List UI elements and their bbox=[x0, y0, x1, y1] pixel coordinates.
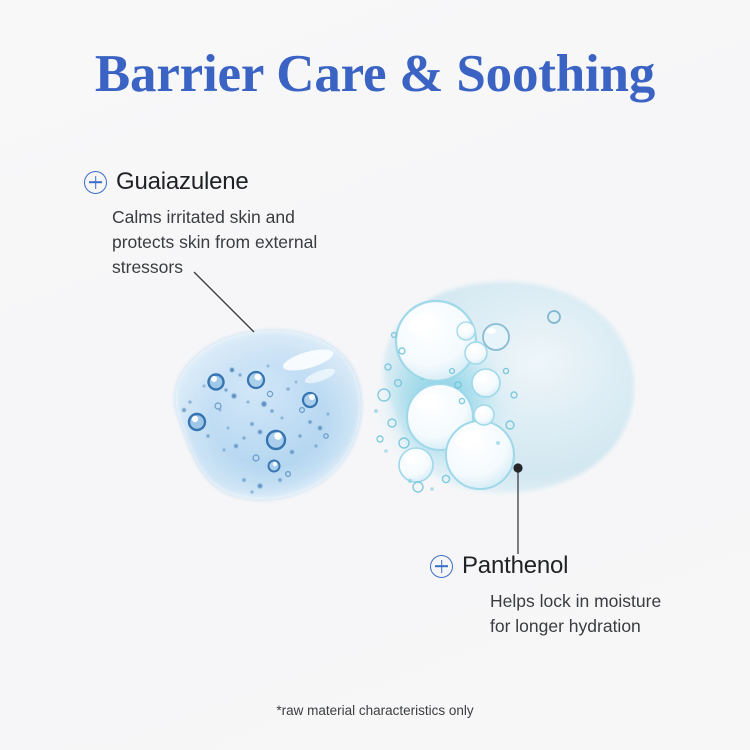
ingredient-name: Guaiazulene bbox=[116, 168, 249, 196]
clear-gel-droplet bbox=[358, 275, 648, 515]
blue-gel-droplet bbox=[160, 318, 370, 518]
ingredient-description: Calms irritated skin and protects skin f… bbox=[112, 205, 317, 280]
ingredient-guaiazulene: Guaiazulene Calms irritated skin and pro… bbox=[84, 168, 317, 280]
ingredient-panthenol: Panthenol Helps lock in moisture for lon… bbox=[430, 552, 661, 639]
ingredient-header: Panthenol bbox=[430, 552, 661, 580]
circled-plus-icon bbox=[84, 171, 107, 194]
page-title: Barrier Care & Soothing bbox=[0, 44, 750, 104]
ingredient-name: Panthenol bbox=[462, 552, 568, 580]
ingredient-header: Guaiazulene bbox=[84, 168, 317, 196]
leader-line-panthenol bbox=[505, 458, 545, 558]
footnote: *raw material characteristics only bbox=[0, 703, 750, 718]
ingredient-description: Helps lock in moisture for longer hydrat… bbox=[490, 589, 661, 639]
leader-dot bbox=[513, 463, 522, 472]
circled-plus-icon bbox=[430, 555, 453, 578]
marketing-graphic: Barrier Care & Soothing bbox=[0, 0, 750, 750]
